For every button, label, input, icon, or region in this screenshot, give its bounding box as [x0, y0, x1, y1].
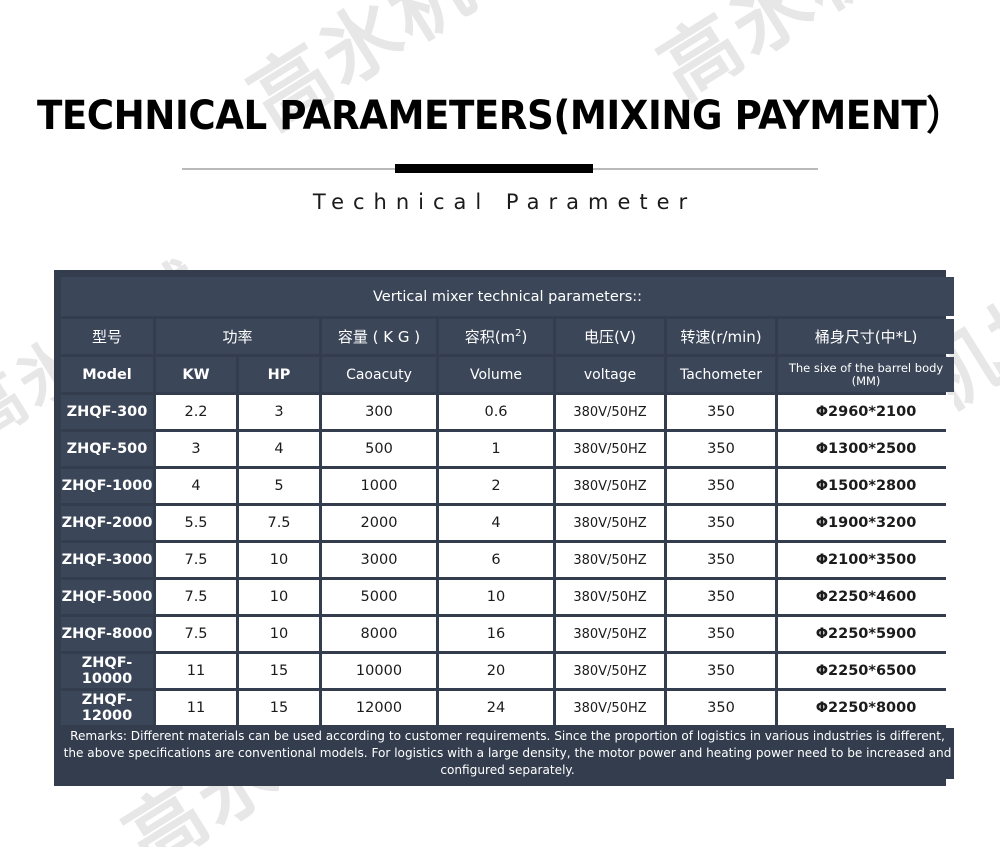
table-caption-row: Vertical mixer technical parameters::	[61, 277, 954, 316]
cell-barrel: Φ1300*2500	[778, 432, 954, 466]
cell-voltage: 380V/50HZ	[556, 654, 664, 688]
cell-model: ZHQF-1000	[61, 469, 153, 503]
cell-barrel: Φ2100*3500	[778, 543, 954, 577]
cell-barrel: Φ2250*6500	[778, 654, 954, 688]
cell-model: ZHQF-3000	[61, 543, 153, 577]
cell-hp: 10	[239, 617, 319, 651]
cell-capacity: 1000	[322, 469, 436, 503]
cell-kw: 4	[156, 469, 236, 503]
cell-speed: 350	[667, 691, 775, 725]
header-barrel-en: The sixe of the barrel body (MM)	[778, 357, 954, 392]
cell-speed: 350	[667, 580, 775, 614]
cell-capacity: 12000	[322, 691, 436, 725]
cell-barrel: Φ1500*2800	[778, 469, 954, 503]
cell-hp: 15	[239, 654, 319, 688]
cell-model: ZHQF-5000	[61, 580, 153, 614]
cell-volume: 0.6	[439, 395, 553, 429]
table-row: ZHQF-2000 5.5 7.5 2000 4 380V/50HZ 350 Φ…	[61, 506, 954, 540]
cell-speed: 350	[667, 506, 775, 540]
header-volume-cn: 容积(m2)	[439, 319, 553, 354]
cell-hp: 4	[239, 432, 319, 466]
cell-volume: 1	[439, 432, 553, 466]
table-row: ZHQF-10000 11 15 10000 20 380V/50HZ 350 …	[61, 654, 954, 688]
cell-speed: 350	[667, 395, 775, 429]
cell-model: ZHQF-300	[61, 395, 153, 429]
cell-kw: 2.2	[156, 395, 236, 429]
cell-capacity: 10000	[322, 654, 436, 688]
page-subtitle: Technical Parameter	[0, 190, 1000, 214]
cell-capacity: 3000	[322, 543, 436, 577]
cell-capacity: 500	[322, 432, 436, 466]
page-title: TECHNICAL PARAMETERS(MIXING PAYMENT）	[35, 96, 965, 136]
cell-kw: 11	[156, 654, 236, 688]
title-block: TECHNICAL PARAMETERS(MIXING PAYMENT） Tec…	[0, 0, 1000, 214]
cell-speed: 350	[667, 469, 775, 503]
cell-barrel: Φ2960*2100	[778, 395, 954, 429]
cell-hp: 15	[239, 691, 319, 725]
cell-capacity: 2000	[322, 506, 436, 540]
header-volume-en: Volume	[439, 357, 553, 392]
cell-volume: 20	[439, 654, 553, 688]
cell-model: ZHQF-500	[61, 432, 153, 466]
table-remarks: Remarks: Different materials can be used…	[61, 728, 954, 779]
cell-capacity: 8000	[322, 617, 436, 651]
cell-speed: 350	[667, 543, 775, 577]
cell-voltage: 380V/50HZ	[556, 469, 664, 503]
cell-hp: 10	[239, 543, 319, 577]
cell-voltage: 380V/50HZ	[556, 580, 664, 614]
header-speed-en: Tachometer	[667, 357, 775, 392]
cell-voltage: 380V/50HZ	[556, 506, 664, 540]
table-caption: Vertical mixer technical parameters::	[61, 277, 954, 316]
cell-volume: 16	[439, 617, 553, 651]
cell-volume: 4	[439, 506, 553, 540]
table-row: ZHQF-300 2.2 3 300 0.6 380V/50HZ 350 Φ29…	[61, 395, 954, 429]
page-root: TECHNICAL PARAMETERS(MIXING PAYMENT） Tec…	[0, 0, 1000, 786]
cell-speed: 350	[667, 654, 775, 688]
cell-voltage: 380V/50HZ	[556, 543, 664, 577]
header-capacity-en: Caoacuty	[322, 357, 436, 392]
table-row: ZHQF-12000 11 15 12000 24 380V/50HZ 350 …	[61, 691, 954, 725]
cell-kw: 3	[156, 432, 236, 466]
header-power-cn: 功率	[156, 319, 319, 354]
header-model-en: Model	[61, 357, 153, 392]
cell-barrel: Φ2250*8000	[778, 691, 954, 725]
cell-kw: 11	[156, 691, 236, 725]
cell-speed: 350	[667, 432, 775, 466]
cell-model: ZHQF-8000	[61, 617, 153, 651]
cell-model: ZHQF-2000	[61, 506, 153, 540]
cell-barrel: Φ2250*4600	[778, 580, 954, 614]
cell-capacity: 5000	[322, 580, 436, 614]
cell-volume: 10	[439, 580, 553, 614]
cell-voltage: 380V/50HZ	[556, 432, 664, 466]
cell-volume: 24	[439, 691, 553, 725]
header-row-cn: 型号 功率 容量 ( K G ) 容积(m2) 电压(V) 转速(r/min) …	[61, 319, 954, 354]
header-hp-en: HP	[239, 357, 319, 392]
cell-kw: 5.5	[156, 506, 236, 540]
cell-kw: 7.5	[156, 617, 236, 651]
cell-speed: 350	[667, 617, 775, 651]
cell-voltage: 380V/50HZ	[556, 617, 664, 651]
divider-accent-bar	[395, 164, 593, 173]
cell-hp: 5	[239, 469, 319, 503]
header-row-en: Model KW HP Caoacuty Volume voltage Tach…	[61, 357, 954, 392]
title-divider	[182, 164, 818, 174]
cell-hp: 10	[239, 580, 319, 614]
table-row: ZHQF-8000 7.5 10 8000 16 380V/50HZ 350 Φ…	[61, 617, 954, 651]
header-speed-cn: 转速(r/min)	[667, 319, 775, 354]
table-remarks-row: Remarks: Different materials can be used…	[61, 728, 954, 779]
cell-model: ZHQF-10000	[61, 654, 153, 688]
cell-barrel: Φ1900*3200	[778, 506, 954, 540]
cell-capacity: 300	[322, 395, 436, 429]
spec-table: Vertical mixer technical parameters:: 型号…	[58, 274, 957, 782]
header-model-cn: 型号	[61, 319, 153, 354]
header-voltage-en: voltage	[556, 357, 664, 392]
cell-hp: 7.5	[239, 506, 319, 540]
cell-volume: 2	[439, 469, 553, 503]
header-kw-en: KW	[156, 357, 236, 392]
cell-voltage: 380V/50HZ	[556, 395, 664, 429]
header-barrel-cn: 桶身尺寸(中*L)	[778, 319, 954, 354]
header-capacity-cn: 容量 ( K G )	[322, 319, 436, 354]
table-row: ZHQF-3000 7.5 10 3000 6 380V/50HZ 350 Φ2…	[61, 543, 954, 577]
table-row: ZHQF-5000 7.5 10 5000 10 380V/50HZ 350 Φ…	[61, 580, 954, 614]
header-voltage-cn: 电压(V)	[556, 319, 664, 354]
cell-kw: 7.5	[156, 543, 236, 577]
cell-kw: 7.5	[156, 580, 236, 614]
cell-hp: 3	[239, 395, 319, 429]
table-row: ZHQF-1000 4 5 1000 2 380V/50HZ 350 Φ1500…	[61, 469, 954, 503]
cell-volume: 6	[439, 543, 553, 577]
cell-barrel: Φ2250*5900	[778, 617, 954, 651]
table-row: ZHQF-500 3 4 500 1 380V/50HZ 350 Φ1300*2…	[61, 432, 954, 466]
cell-voltage: 380V/50HZ	[556, 691, 664, 725]
cell-model: ZHQF-12000	[61, 691, 153, 725]
spec-table-panel: Vertical mixer technical parameters:: 型号…	[54, 270, 946, 786]
